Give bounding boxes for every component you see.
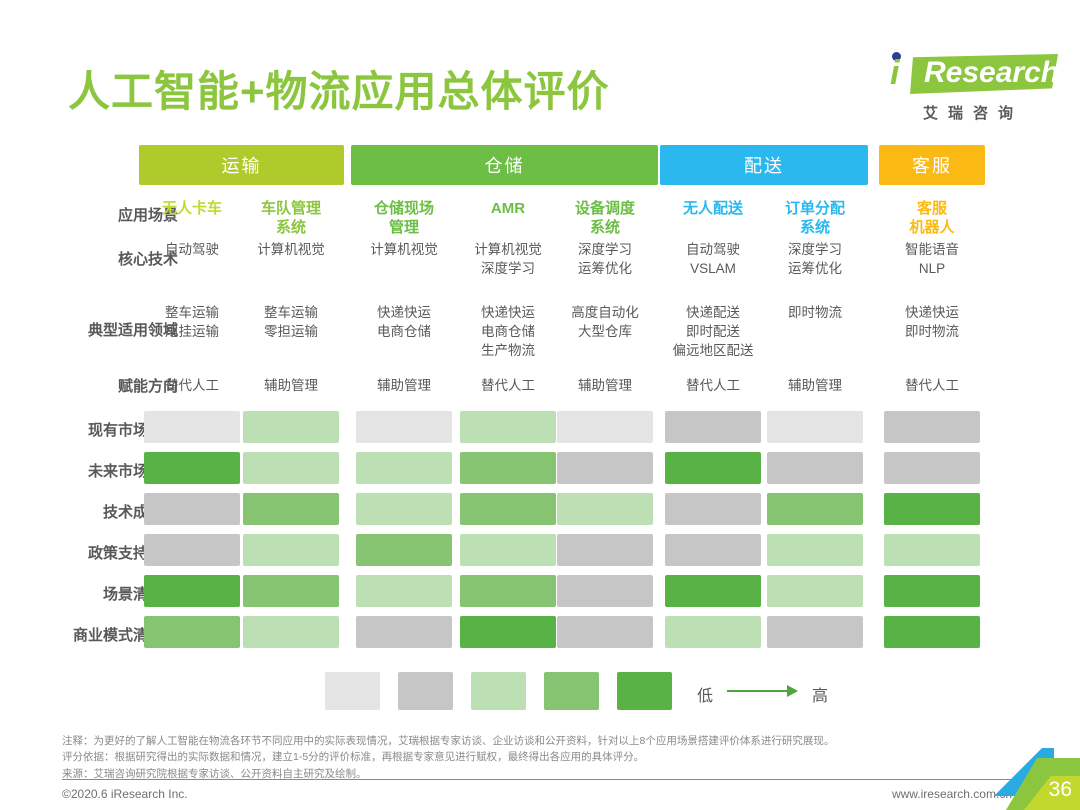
- heatmap-cell-r5-c1: [144, 575, 240, 607]
- scenario-name-2: 车队管理系统: [235, 200, 347, 238]
- legend-arrow-icon: [727, 683, 802, 699]
- application-domain-7: 即时物流: [751, 303, 879, 322]
- heatmap-cell-r1-c7: [767, 411, 863, 443]
- legend-swatch-level-1: [325, 672, 380, 710]
- scenario-name-8: 客服机器人: [876, 200, 988, 238]
- heatmap-cell-r3-c4: [460, 493, 556, 525]
- evaluation-matrix: 运输仓储配送客服应用场景核心技术典型适用领域赋能方向无人卡车自动驾驶整车运输甩挂…: [0, 0, 1080, 810]
- scenario-name-6: 无人配送: [657, 200, 769, 219]
- scenario-name-4: AMR: [452, 200, 564, 219]
- legend-label-high: 高: [812, 682, 828, 706]
- core-technology-6: 自动驾驶VSLAM: [655, 240, 771, 278]
- heatmap-cell-r3-c2: [243, 493, 339, 525]
- heatmap-cell-r5-c6: [665, 575, 761, 607]
- legend-swatch-level-4: [544, 672, 599, 710]
- heatmap-cell-r6-c6: [665, 616, 761, 648]
- footnote-line: 评分依据：根据研究得出的实际数据和情况，建立1-5分的评价标准，再根据专家意见进…: [62, 749, 1012, 765]
- heatmap-cell-r5-c3: [356, 575, 452, 607]
- footnote-line: 注释：为更好的了解人工智能在物流各环节不同应用中的实际表现情况，艾瑞根据专家访谈…: [62, 733, 1012, 749]
- heatmap-cell-r2-c2: [243, 452, 339, 484]
- enabling-direction-8: 替代人工: [874, 376, 990, 395]
- heatmap-cell-r5-c8: [884, 575, 980, 607]
- group-header-配送: 配送: [660, 145, 868, 185]
- legend-label-low: 低: [697, 682, 713, 706]
- heatmap-cell-r5-c7: [767, 575, 863, 607]
- heatmap-cell-r6-c2: [243, 616, 339, 648]
- group-header-运输: 运输: [139, 145, 344, 185]
- core-technology-7: 深度学习运筹优化: [757, 240, 873, 278]
- heatmap-cell-r6-c8: [884, 616, 980, 648]
- heatmap-cell-r2-c3: [356, 452, 452, 484]
- heatmap-cell-r4-c6: [665, 534, 761, 566]
- heatmap-cell-r2-c6: [665, 452, 761, 484]
- group-header-仓储: 仓储: [351, 145, 658, 185]
- core-technology-5: 深度学习运筹优化: [547, 240, 663, 278]
- heatmap-cell-r4-c4: [460, 534, 556, 566]
- heatmap-cell-r4-c1: [144, 534, 240, 566]
- scenario-name-1: 无人卡车: [136, 200, 248, 219]
- heatmap-cell-r6-c4: [460, 616, 556, 648]
- heatmap-cell-r2-c7: [767, 452, 863, 484]
- enabling-direction-2: 辅助管理: [233, 376, 349, 395]
- heatmap-cell-r5-c4: [460, 575, 556, 607]
- core-technology-2: 计算机视觉: [233, 240, 349, 259]
- enabling-direction-6: 替代人工: [655, 376, 771, 395]
- heatmap-cell-r2-c8: [884, 452, 980, 484]
- heatmap-cell-r4-c7: [767, 534, 863, 566]
- application-domain-8: 快递快运即时物流: [868, 303, 996, 341]
- legend-arrow-line: [727, 690, 789, 692]
- heatmap-cell-r3-c6: [665, 493, 761, 525]
- heatmap-cell-r3-c5: [557, 493, 653, 525]
- heatmap-cell-r3-c3: [356, 493, 452, 525]
- heatmap-cell-r6-c7: [767, 616, 863, 648]
- enabling-direction-5: 辅助管理: [547, 376, 663, 395]
- heatmap-cell-r1-c5: [557, 411, 653, 443]
- legend-swatch-level-3: [471, 672, 526, 710]
- heatmap-cell-r6-c5: [557, 616, 653, 648]
- legend-swatch-level-5: [617, 672, 672, 710]
- heatmap-cell-r4-c3: [356, 534, 452, 566]
- heatmap-cell-r4-c2: [243, 534, 339, 566]
- core-technology-8: 智能语音NLP: [874, 240, 990, 278]
- heatmap-cell-r1-c1: [144, 411, 240, 443]
- application-domain-2: 整车运输零担运输: [227, 303, 355, 341]
- heatmap-cell-r4-c5: [557, 534, 653, 566]
- group-header-客服: 客服: [879, 145, 985, 185]
- legend-arrow-head: [787, 685, 798, 697]
- heatmap-cell-r1-c4: [460, 411, 556, 443]
- scenario-name-5: 设备调度系统: [549, 200, 661, 238]
- enabling-direction-7: 辅助管理: [757, 376, 873, 395]
- core-technology-3: 计算机视觉: [346, 240, 462, 259]
- heatmap-cell-r1-c6: [665, 411, 761, 443]
- copyright-text: ©2020.6 iResearch Inc.: [62, 787, 188, 801]
- scenario-name-3: 仓储现场管理: [348, 200, 460, 238]
- slide-page: 人工智能+物流应用总体评价 i Research 艾瑞咨询 运输仓储配送客服应用…: [0, 0, 1080, 810]
- footnotes: 注释：为更好的了解人工智能在物流各环节不同应用中的实际表现情况，艾瑞根据专家访谈…: [62, 733, 1012, 782]
- enabling-direction-3: 辅助管理: [346, 376, 462, 395]
- heatmap-cell-r2-c4: [460, 452, 556, 484]
- legend-swatch-level-2: [398, 672, 453, 710]
- heatmap-cell-r3-c1: [144, 493, 240, 525]
- heatmap-cell-r1-c8: [884, 411, 980, 443]
- heatmap-cell-r5-c5: [557, 575, 653, 607]
- heatmap-cell-r4-c8: [884, 534, 980, 566]
- footer-divider: [62, 779, 1018, 780]
- page-number: 36: [1049, 778, 1072, 802]
- heatmap-cell-r3-c7: [767, 493, 863, 525]
- heatmap-cell-r1-c2: [243, 411, 339, 443]
- heatmap-cell-r3-c8: [884, 493, 980, 525]
- heatmap-cell-r2-c1: [144, 452, 240, 484]
- heatmap-cell-r1-c3: [356, 411, 452, 443]
- heatmap-cell-r6-c1: [144, 616, 240, 648]
- scenario-name-7: 订单分配系统: [759, 200, 871, 238]
- heatmap-cell-r2-c5: [557, 452, 653, 484]
- heatmap-cell-r6-c3: [356, 616, 452, 648]
- heatmap-cell-r5-c2: [243, 575, 339, 607]
